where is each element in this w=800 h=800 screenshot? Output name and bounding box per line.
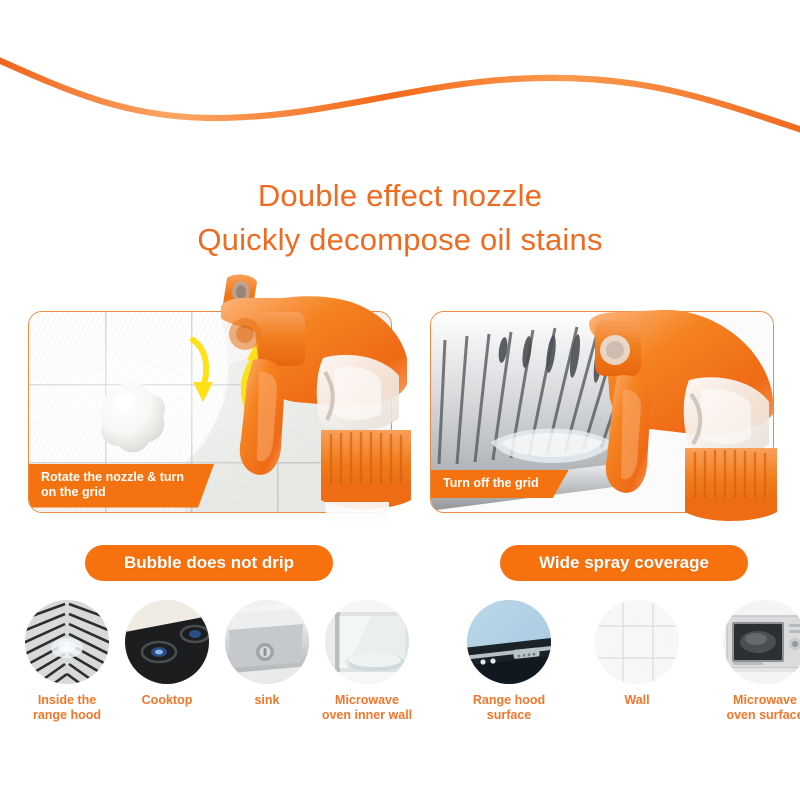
thumb-microwave-surface[interactable]: Microwave oven surface [706, 600, 800, 722]
range-hood-surface-thumb-image [467, 600, 551, 684]
headline-line-2: Quickly decompose oil stains [0, 220, 800, 260]
stainless-sink-thumb-image [225, 600, 309, 684]
thumb-wall[interactable]: Wall [578, 600, 696, 722]
thumb-label: Inside the range hood [18, 693, 116, 722]
thumb-label: Cooktop [118, 693, 216, 708]
headline-line-1: Double effect nozzle [0, 176, 800, 216]
thumb-microwave-inner-wall[interactable]: Microwave oven inner wall [318, 600, 416, 722]
feature-title-bubble-does-not-drip[interactable]: Bubble does not drip [85, 545, 333, 581]
gas-cooktop-thumb-image [125, 600, 209, 684]
arrow-up-curved-icon [227, 336, 285, 422]
feature-title-wide-spray-coverage[interactable]: Wide spray coverage [500, 545, 748, 581]
panel-caption-rotate-nozzle: Rotate the nozzle & turn on the grid [29, 464, 214, 508]
page-title: Double effect nozzle Quickly decompose o… [0, 176, 800, 259]
thumb-sink[interactable]: sink [218, 600, 316, 722]
thumb-label: Wall [578, 693, 696, 708]
infographic-canvas: Double effect nozzle Quickly decompose o… [0, 0, 800, 800]
thumb-label: sink [218, 693, 316, 708]
thumbnail-group-spray: Range hood surface [450, 600, 800, 722]
panel-rotate-nozzle: Rotate the nozzle & turn on the grid [28, 311, 392, 513]
panel-caption-turn-off-grid: Turn off the grid [431, 470, 569, 498]
orange-wave-decoration [0, 0, 800, 150]
thumb-range-hood-surface[interactable]: Range hood surface [450, 600, 568, 722]
thumb-inside-range-hood[interactable]: Inside the range hood [18, 600, 116, 722]
thumb-label: Microwave oven inner wall [318, 693, 416, 722]
microwave-interior-thumb-image [325, 600, 409, 684]
thumb-cooktop[interactable]: Cooktop [118, 600, 216, 722]
foam-blob [91, 378, 175, 462]
tiled-wall-thumb-image [595, 600, 679, 684]
thumb-label: Microwave oven surface [706, 693, 800, 722]
thumbnail-group-bubble: Inside the range hood Cooktop [18, 600, 418, 722]
microwave-exterior-thumb-image [723, 600, 800, 684]
panel-turn-off-grid: Turn off the grid [430, 311, 774, 513]
thumb-label: Range hood surface [450, 693, 568, 722]
range-hood-grille-thumb-image [25, 600, 109, 684]
nozzle-tip [223, 275, 257, 312]
